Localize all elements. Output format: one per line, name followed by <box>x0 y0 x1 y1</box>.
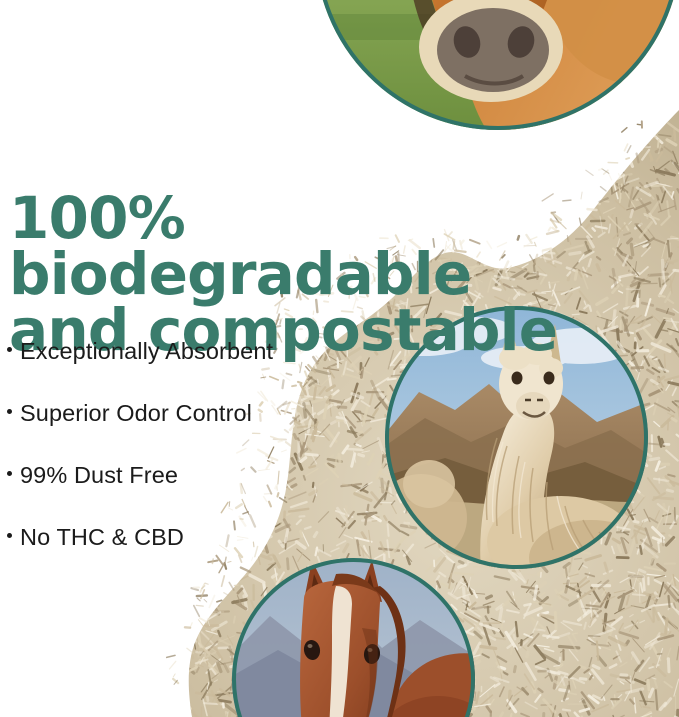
benefits-list: Exceptionally Absorbent Superior Odor Co… <box>6 338 336 551</box>
page-title: 100% biodegradable and compostable <box>9 190 439 359</box>
bullet-dot-icon <box>7 347 12 352</box>
bullet-dot-icon <box>7 471 12 476</box>
bullet-dot-icon <box>7 533 12 538</box>
product-feature-panel: 100% biodegradable and compostable Excep… <box>0 0 679 717</box>
list-item: 99% Dust Free <box>6 462 336 489</box>
benefit-label: Superior Odor Control <box>20 400 252 426</box>
headline-line-1: 100% <box>9 190 439 246</box>
list-item: Superior Odor Control <box>6 400 336 427</box>
list-item: No THC & CBD <box>6 524 336 551</box>
bullet-dot-icon <box>7 409 12 414</box>
headline-line-2: biodegradable <box>9 246 439 302</box>
list-item: Exceptionally Absorbent <box>6 338 336 365</box>
benefit-label: No THC & CBD <box>20 524 184 550</box>
benefit-label: 99% Dust Free <box>20 462 178 488</box>
benefit-label: Exceptionally Absorbent <box>20 338 273 364</box>
